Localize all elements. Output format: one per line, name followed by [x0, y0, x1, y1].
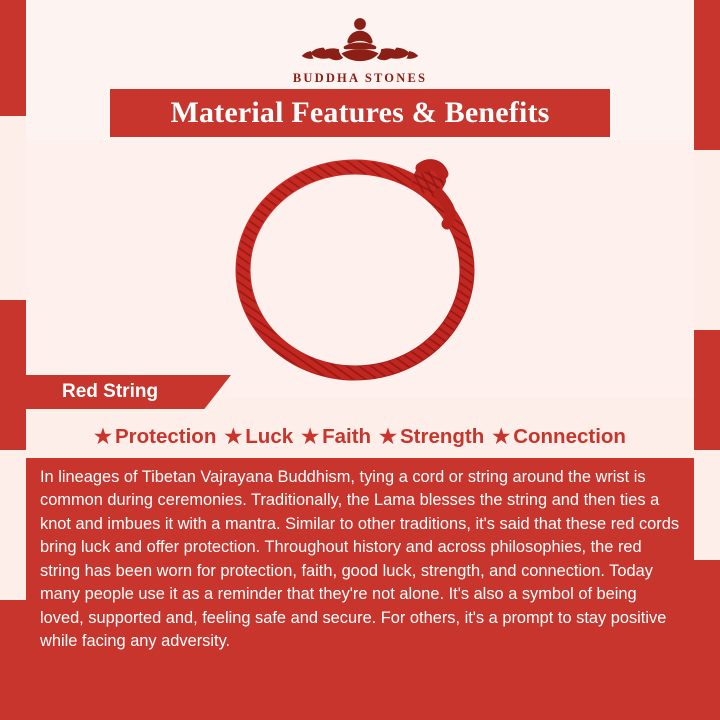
decor-bar-left-mid	[0, 300, 26, 450]
product-label-tab: Red String	[26, 375, 231, 409]
decor-bar-left-bottom	[0, 600, 26, 720]
decor-bar-right-bottom	[694, 560, 720, 720]
star-icon: ★	[379, 427, 397, 447]
product-image-area	[26, 140, 694, 398]
lotus-meditation-icon	[301, 12, 419, 68]
star-icon: ★	[94, 427, 112, 447]
features-row: ★ Protection ★ Luck ★ Faith ★ Strength ★…	[26, 415, 694, 459]
page-title-banner: Material Features & Benefits	[110, 89, 610, 137]
star-icon: ★	[301, 427, 319, 447]
page-title: Material Features & Benefits	[170, 96, 549, 130]
feature-item-protection: ★ Protection	[90, 425, 220, 449]
description-text: In lineages of Tibetan Vajrayana Buddhis…	[26, 458, 694, 720]
star-icon: ★	[224, 427, 242, 447]
feature-label: Protection	[115, 425, 216, 449]
decor-bar-right-mid	[694, 330, 720, 450]
brand-logo: BUDDHA STONES	[26, 12, 694, 86]
feature-item-strength: ★ Strength	[375, 425, 488, 449]
feature-item-faith: ★ Faith	[297, 425, 375, 449]
infographic-page: BUDDHA STONES Material Features & Benefi…	[0, 0, 720, 720]
product-label-text: Red String	[62, 381, 158, 403]
feature-label: Connection	[513, 425, 626, 449]
feature-label: Strength	[400, 425, 484, 449]
feature-label: Faith	[322, 425, 371, 449]
star-icon: ★	[492, 427, 510, 447]
brand-name: BUDDHA STONES	[293, 71, 427, 86]
feature-label: Luck	[245, 425, 293, 449]
feature-item-luck: ★ Luck	[220, 425, 297, 449]
feature-item-connection: ★ Connection	[488, 425, 630, 449]
decor-bar-right-top	[694, 0, 720, 150]
decor-bar-left-top	[0, 0, 26, 116]
red-braided-string-bracelet	[215, 150, 505, 385]
